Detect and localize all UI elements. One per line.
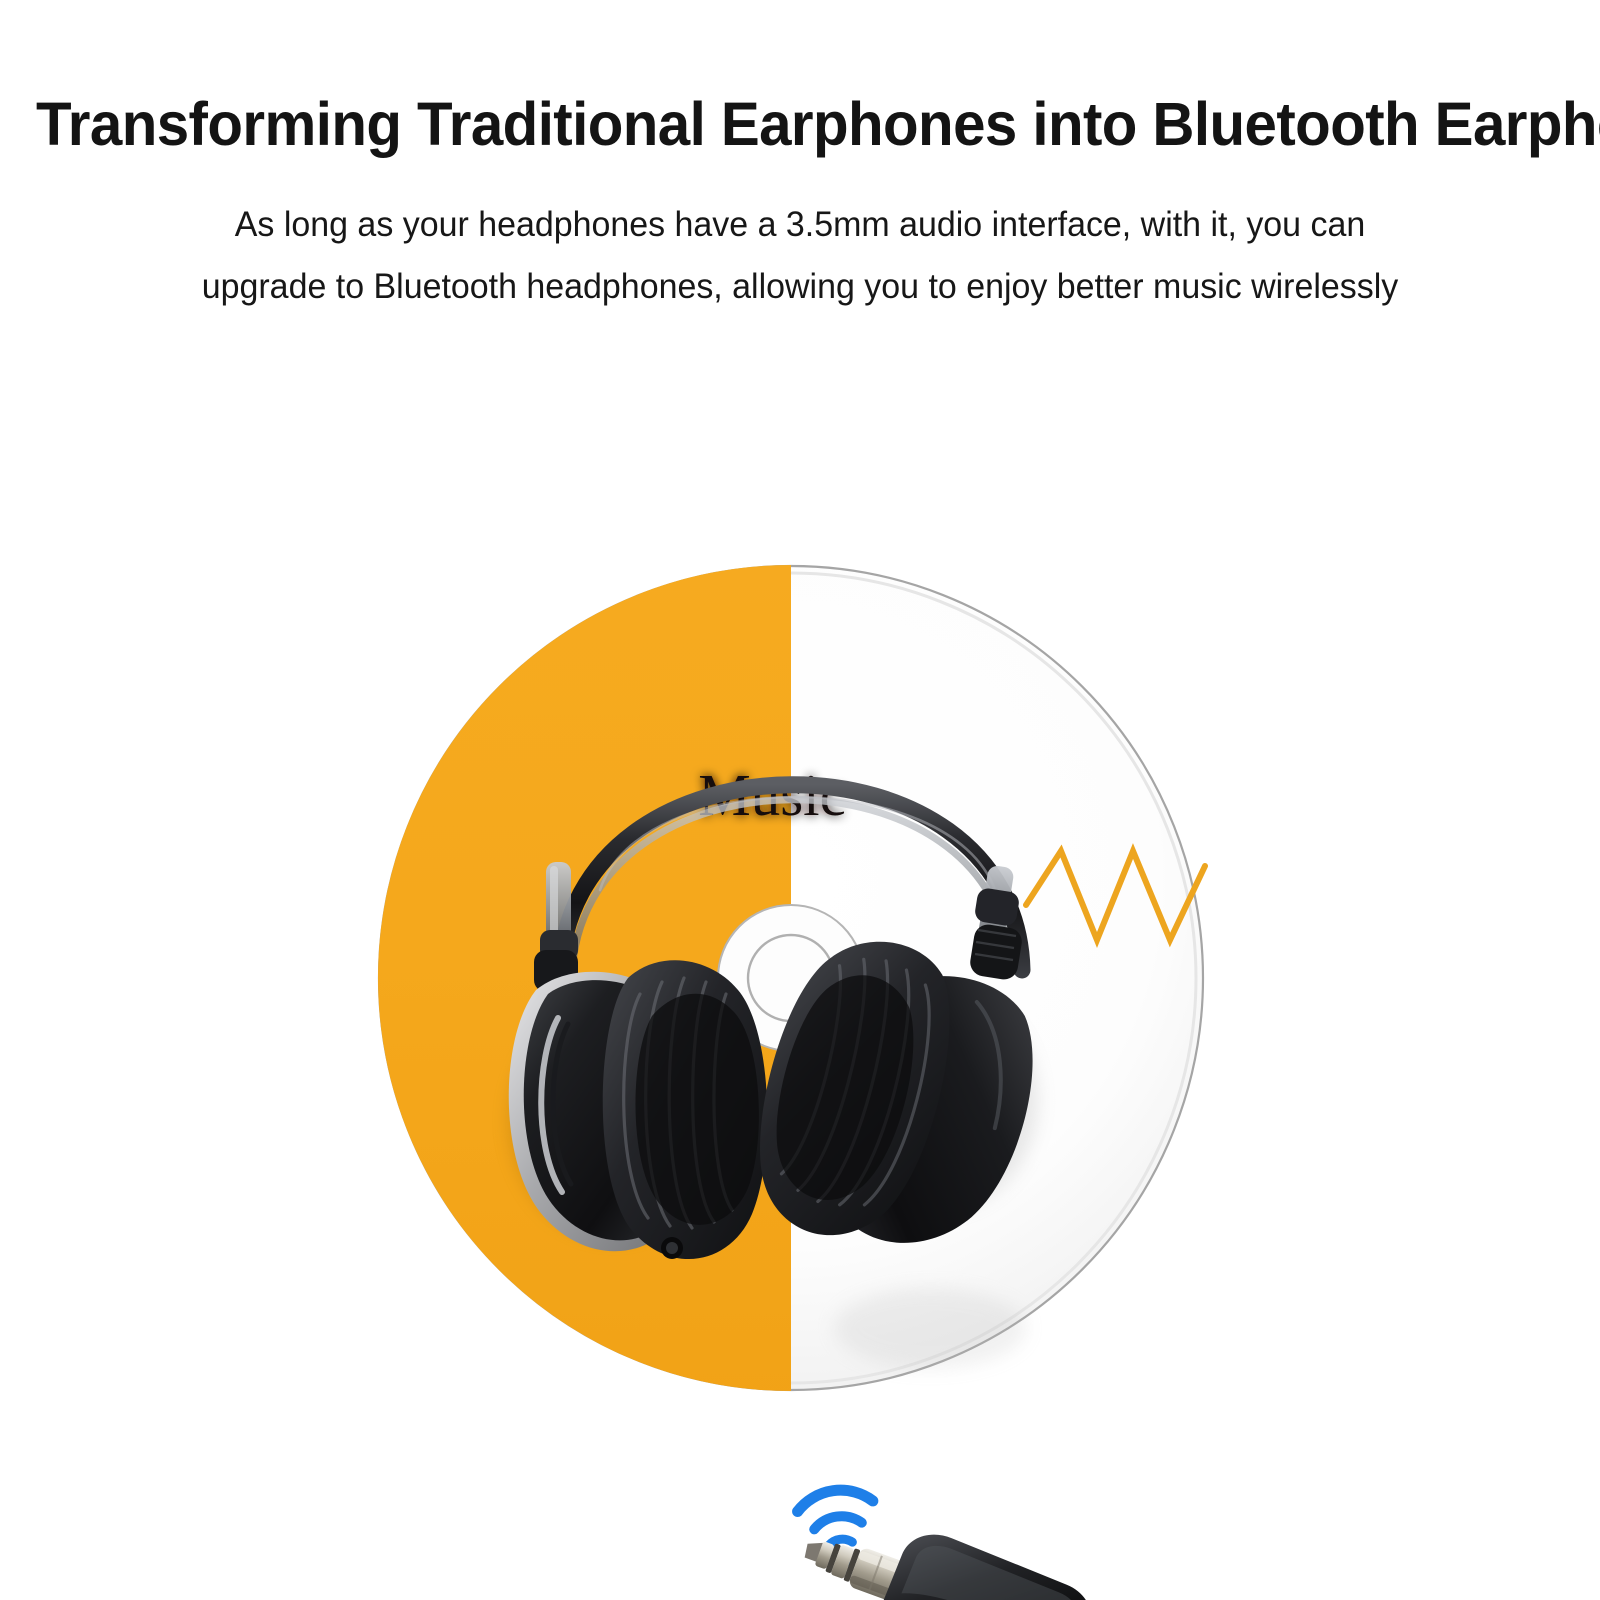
left-ear-cup bbox=[509, 960, 768, 1259]
artwork-svg: Music bbox=[0, 330, 1600, 1600]
product-artwork: Music bbox=[0, 330, 1600, 1600]
subtitle-line-2: upgrade to Bluetooth headphones, allowin… bbox=[24, 256, 1576, 318]
bluetooth-adapter-icon: Bluetooth bbox=[799, 1288, 1104, 1600]
page-title: Transforming Traditional Earphones into … bbox=[36, 0, 1564, 156]
page-subtitle: As long as your headphones have a 3.5mm … bbox=[24, 156, 1576, 319]
subtitle-line-1: As long as your headphones have a 3.5mm … bbox=[24, 194, 1576, 256]
product-marketing-page: Transforming Traditional Earphones into … bbox=[0, 0, 1600, 1600]
header: Transforming Traditional Earphones into … bbox=[0, 0, 1600, 319]
